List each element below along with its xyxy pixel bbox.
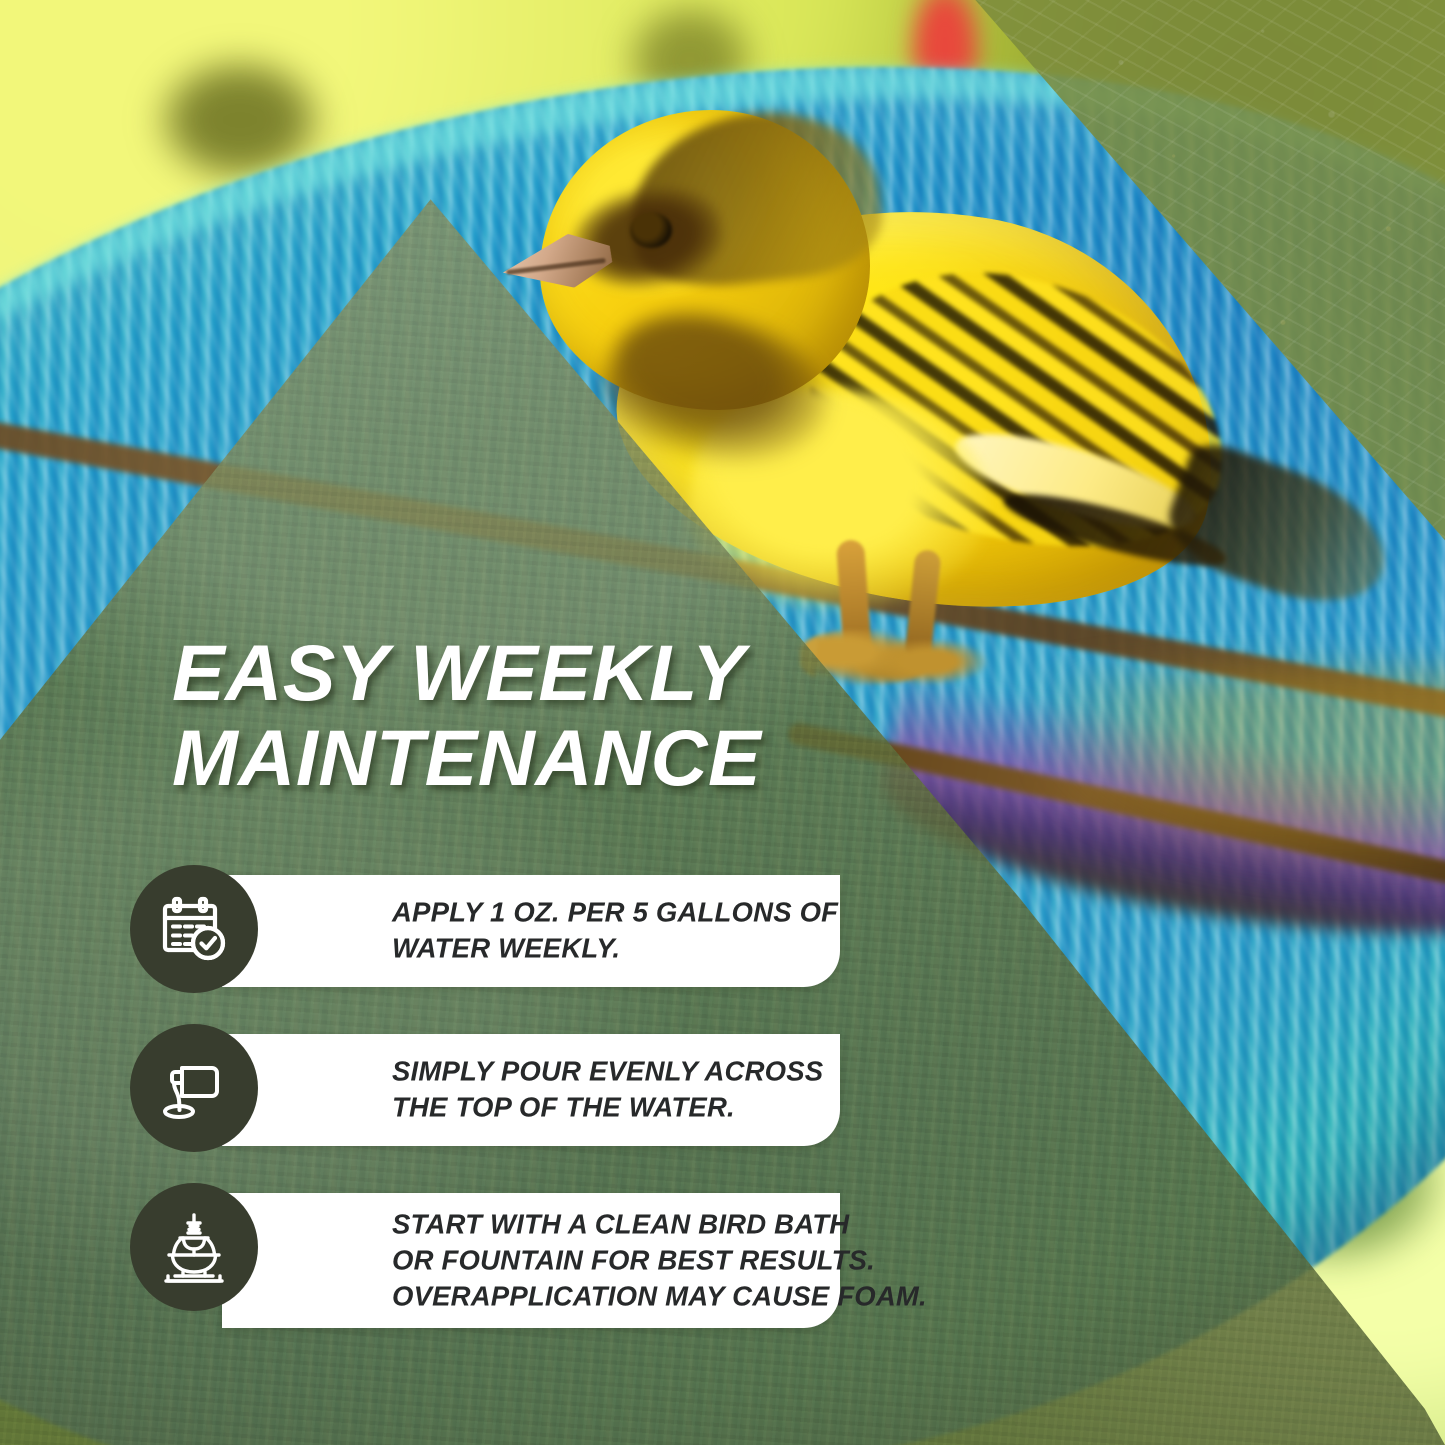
- list-item: SIMPLY POUR EVENLY ACROSS THE TOP OF THE…: [130, 1024, 840, 1154]
- step-text: SIMPLY POUR EVENLY ACROSS THE TOP OF THE…: [392, 1054, 932, 1127]
- step-text: APPLY 1 OZ. PER 5 GALLONS OF WATER WEEKL…: [392, 895, 932, 968]
- list-item: APPLY 1 OZ. PER 5 GALLONS OF WATER WEEKL…: [130, 865, 840, 995]
- bird-eye: [630, 212, 672, 248]
- bird-foot-right: [875, 640, 995, 688]
- page-title: EASY WEEKLY MAINTENANCE: [172, 631, 872, 800]
- pouring-bottle-icon: [130, 1024, 258, 1152]
- step-pill: SIMPLY POUR EVENLY ACROSS THE TOP OF THE…: [222, 1034, 840, 1146]
- fountain-icon: [130, 1183, 258, 1311]
- step-pill: APPLY 1 OZ. PER 5 GALLONS OF WATER WEEKL…: [222, 875, 840, 987]
- bird-reflection: [1040, 670, 1445, 870]
- calendar-check-icon: [130, 865, 258, 993]
- instruction-steps-list: APPLY 1 OZ. PER 5 GALLONS OF WATER WEEKL…: [130, 865, 840, 1360]
- list-item: START WITH A CLEAN BIRD BATH OR FOUNTAIN…: [130, 1183, 840, 1331]
- step-text: START WITH A CLEAN BIRD BATH OR FOUNTAIN…: [392, 1206, 932, 1315]
- product-infographic-poster: EASY WEEKLY MAINTENANCE APPLY 1 OZ. PER …: [0, 0, 1445, 1445]
- step-pill: START WITH A CLEAN BIRD BATH OR FOUNTAIN…: [222, 1193, 840, 1328]
